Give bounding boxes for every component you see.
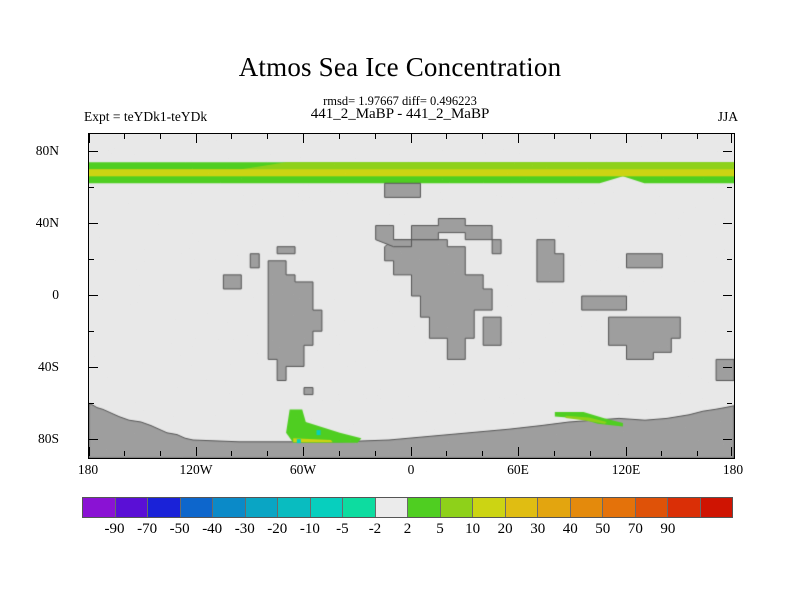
y-major-tick bbox=[723, 295, 732, 296]
x-minor-tick bbox=[124, 451, 125, 456]
colorbar-tick-label: 30 bbox=[530, 521, 545, 538]
x-minor-tick bbox=[231, 134, 232, 139]
colorbar-tick-label: -40 bbox=[202, 521, 222, 538]
x-major-tick bbox=[89, 134, 90, 143]
x-major-tick bbox=[196, 134, 197, 143]
x-major-tick bbox=[626, 447, 627, 456]
y-minor-tick bbox=[89, 187, 94, 188]
colorbar-cell-17 bbox=[636, 498, 669, 517]
season-label: JJA bbox=[718, 109, 738, 125]
colorbar-cell-2 bbox=[148, 498, 181, 517]
colorbar-tick-label: -20 bbox=[267, 521, 287, 538]
colorbar-cell-3 bbox=[181, 498, 214, 517]
colorbar-cell-14 bbox=[538, 498, 571, 517]
x-minor-tick bbox=[554, 134, 555, 139]
x-axis-label: 0 bbox=[408, 462, 415, 478]
colorbar-tick-label: -50 bbox=[170, 521, 190, 538]
colorbar-tick-label: -70 bbox=[137, 521, 157, 538]
colorbar-cell-9 bbox=[376, 498, 409, 517]
x-minor-tick bbox=[554, 451, 555, 456]
x-major-tick bbox=[518, 447, 519, 456]
colorbar-cell-4 bbox=[213, 498, 246, 517]
x-major-tick bbox=[196, 447, 197, 456]
y-major-tick bbox=[723, 223, 732, 224]
x-minor-tick bbox=[339, 451, 340, 456]
y-major-tick bbox=[89, 439, 98, 440]
colorbar-tick-label: 90 bbox=[660, 521, 675, 538]
y-minor-tick bbox=[89, 331, 94, 332]
colorbar-tick-label: 70 bbox=[628, 521, 643, 538]
x-axis-label: 120E bbox=[612, 462, 641, 478]
y-major-tick bbox=[89, 295, 98, 296]
colorbar-cell-18 bbox=[668, 498, 701, 517]
x-major-tick bbox=[411, 447, 412, 456]
x-axis-label: 120W bbox=[180, 462, 213, 478]
y-axis-label: 80N bbox=[36, 143, 59, 159]
colorbar-cell-6 bbox=[278, 498, 311, 517]
x-axis-label: 180 bbox=[723, 462, 743, 478]
x-minor-tick bbox=[661, 451, 662, 456]
x-minor-tick bbox=[375, 134, 376, 139]
colorbar-tick-label: 20 bbox=[498, 521, 513, 538]
page-title: Atmos Sea Ice Concentration bbox=[0, 52, 800, 83]
y-axis-label: 80S bbox=[38, 431, 59, 447]
map-plot-area bbox=[88, 133, 735, 459]
colorbar-cell-5 bbox=[246, 498, 279, 517]
x-minor-tick bbox=[124, 134, 125, 139]
colorbar-tick-label: 50 bbox=[595, 521, 610, 538]
colorbar-cell-19 bbox=[701, 498, 733, 517]
x-minor-tick bbox=[375, 451, 376, 456]
x-minor-tick bbox=[697, 134, 698, 139]
x-major-tick bbox=[518, 134, 519, 143]
y-axis-label: 40S bbox=[38, 359, 59, 375]
y-minor-tick bbox=[727, 331, 732, 332]
x-minor-tick bbox=[446, 451, 447, 456]
y-major-tick bbox=[723, 439, 732, 440]
y-major-tick bbox=[89, 223, 98, 224]
x-minor-tick bbox=[267, 134, 268, 139]
y-major-tick bbox=[723, 151, 732, 152]
x-major-tick bbox=[303, 134, 304, 143]
colorbar bbox=[82, 497, 733, 518]
x-minor-tick bbox=[590, 134, 591, 139]
colorbar-tick-label: -10 bbox=[300, 521, 320, 538]
x-major-tick bbox=[731, 447, 732, 456]
x-major-tick bbox=[303, 447, 304, 456]
colorbar-cell-15 bbox=[571, 498, 604, 517]
y-major-tick bbox=[723, 367, 732, 368]
y-major-tick bbox=[89, 367, 98, 368]
colorbar-cell-16 bbox=[603, 498, 636, 517]
x-minor-tick bbox=[267, 451, 268, 456]
colorbar-tick-label: -90 bbox=[105, 521, 125, 538]
case-comparison-label: 441_2_MaBP - 441_2_MaBP bbox=[0, 106, 800, 123]
x-minor-tick bbox=[160, 451, 161, 456]
x-minor-tick bbox=[661, 134, 662, 139]
x-minor-tick bbox=[160, 134, 161, 139]
y-minor-tick bbox=[727, 259, 732, 260]
y-axis-label: 40N bbox=[36, 215, 59, 231]
colorbar-cell-7 bbox=[311, 498, 344, 517]
sea-ice-difference-map bbox=[89, 134, 734, 458]
x-major-tick bbox=[626, 134, 627, 143]
colorbar-labels: -90-70-50-40-30-20-10-5-2251020304050709… bbox=[82, 521, 733, 543]
x-minor-tick bbox=[231, 451, 232, 456]
x-major-tick bbox=[731, 134, 732, 143]
y-major-tick bbox=[89, 151, 98, 152]
colorbar-tick-label: 2 bbox=[404, 521, 412, 538]
colorbar-tick-label: -30 bbox=[235, 521, 255, 538]
y-minor-tick bbox=[727, 187, 732, 188]
colorbar-tick-label: 10 bbox=[465, 521, 480, 538]
x-minor-tick bbox=[339, 134, 340, 139]
y-minor-tick bbox=[727, 403, 732, 404]
y-minor-tick bbox=[89, 403, 94, 404]
x-minor-tick bbox=[446, 134, 447, 139]
colorbar-cell-1 bbox=[116, 498, 149, 517]
colorbar-cell-10 bbox=[408, 498, 441, 517]
colorbar-cell-8 bbox=[343, 498, 376, 517]
colorbar-tick-label: 40 bbox=[563, 521, 578, 538]
x-axis-label: 60W bbox=[290, 462, 316, 478]
colorbar-tick-label: -5 bbox=[336, 521, 349, 538]
x-major-tick bbox=[89, 447, 90, 456]
x-minor-tick bbox=[697, 451, 698, 456]
colorbar-cell-12 bbox=[473, 498, 506, 517]
x-axis-label: 60E bbox=[507, 462, 529, 478]
colorbar-cell-11 bbox=[441, 498, 474, 517]
y-minor-tick bbox=[89, 259, 94, 260]
colorbar-cell-13 bbox=[506, 498, 539, 517]
x-major-tick bbox=[411, 134, 412, 143]
colorbar-cell-0 bbox=[83, 498, 116, 517]
y-axis-label: 0 bbox=[52, 287, 59, 303]
x-minor-tick bbox=[482, 451, 483, 456]
colorbar-tick-label: -2 bbox=[369, 521, 382, 538]
x-minor-tick bbox=[590, 451, 591, 456]
x-minor-tick bbox=[482, 134, 483, 139]
x-axis-label: 180 bbox=[78, 462, 98, 478]
colorbar-tick-label: 5 bbox=[436, 521, 444, 538]
